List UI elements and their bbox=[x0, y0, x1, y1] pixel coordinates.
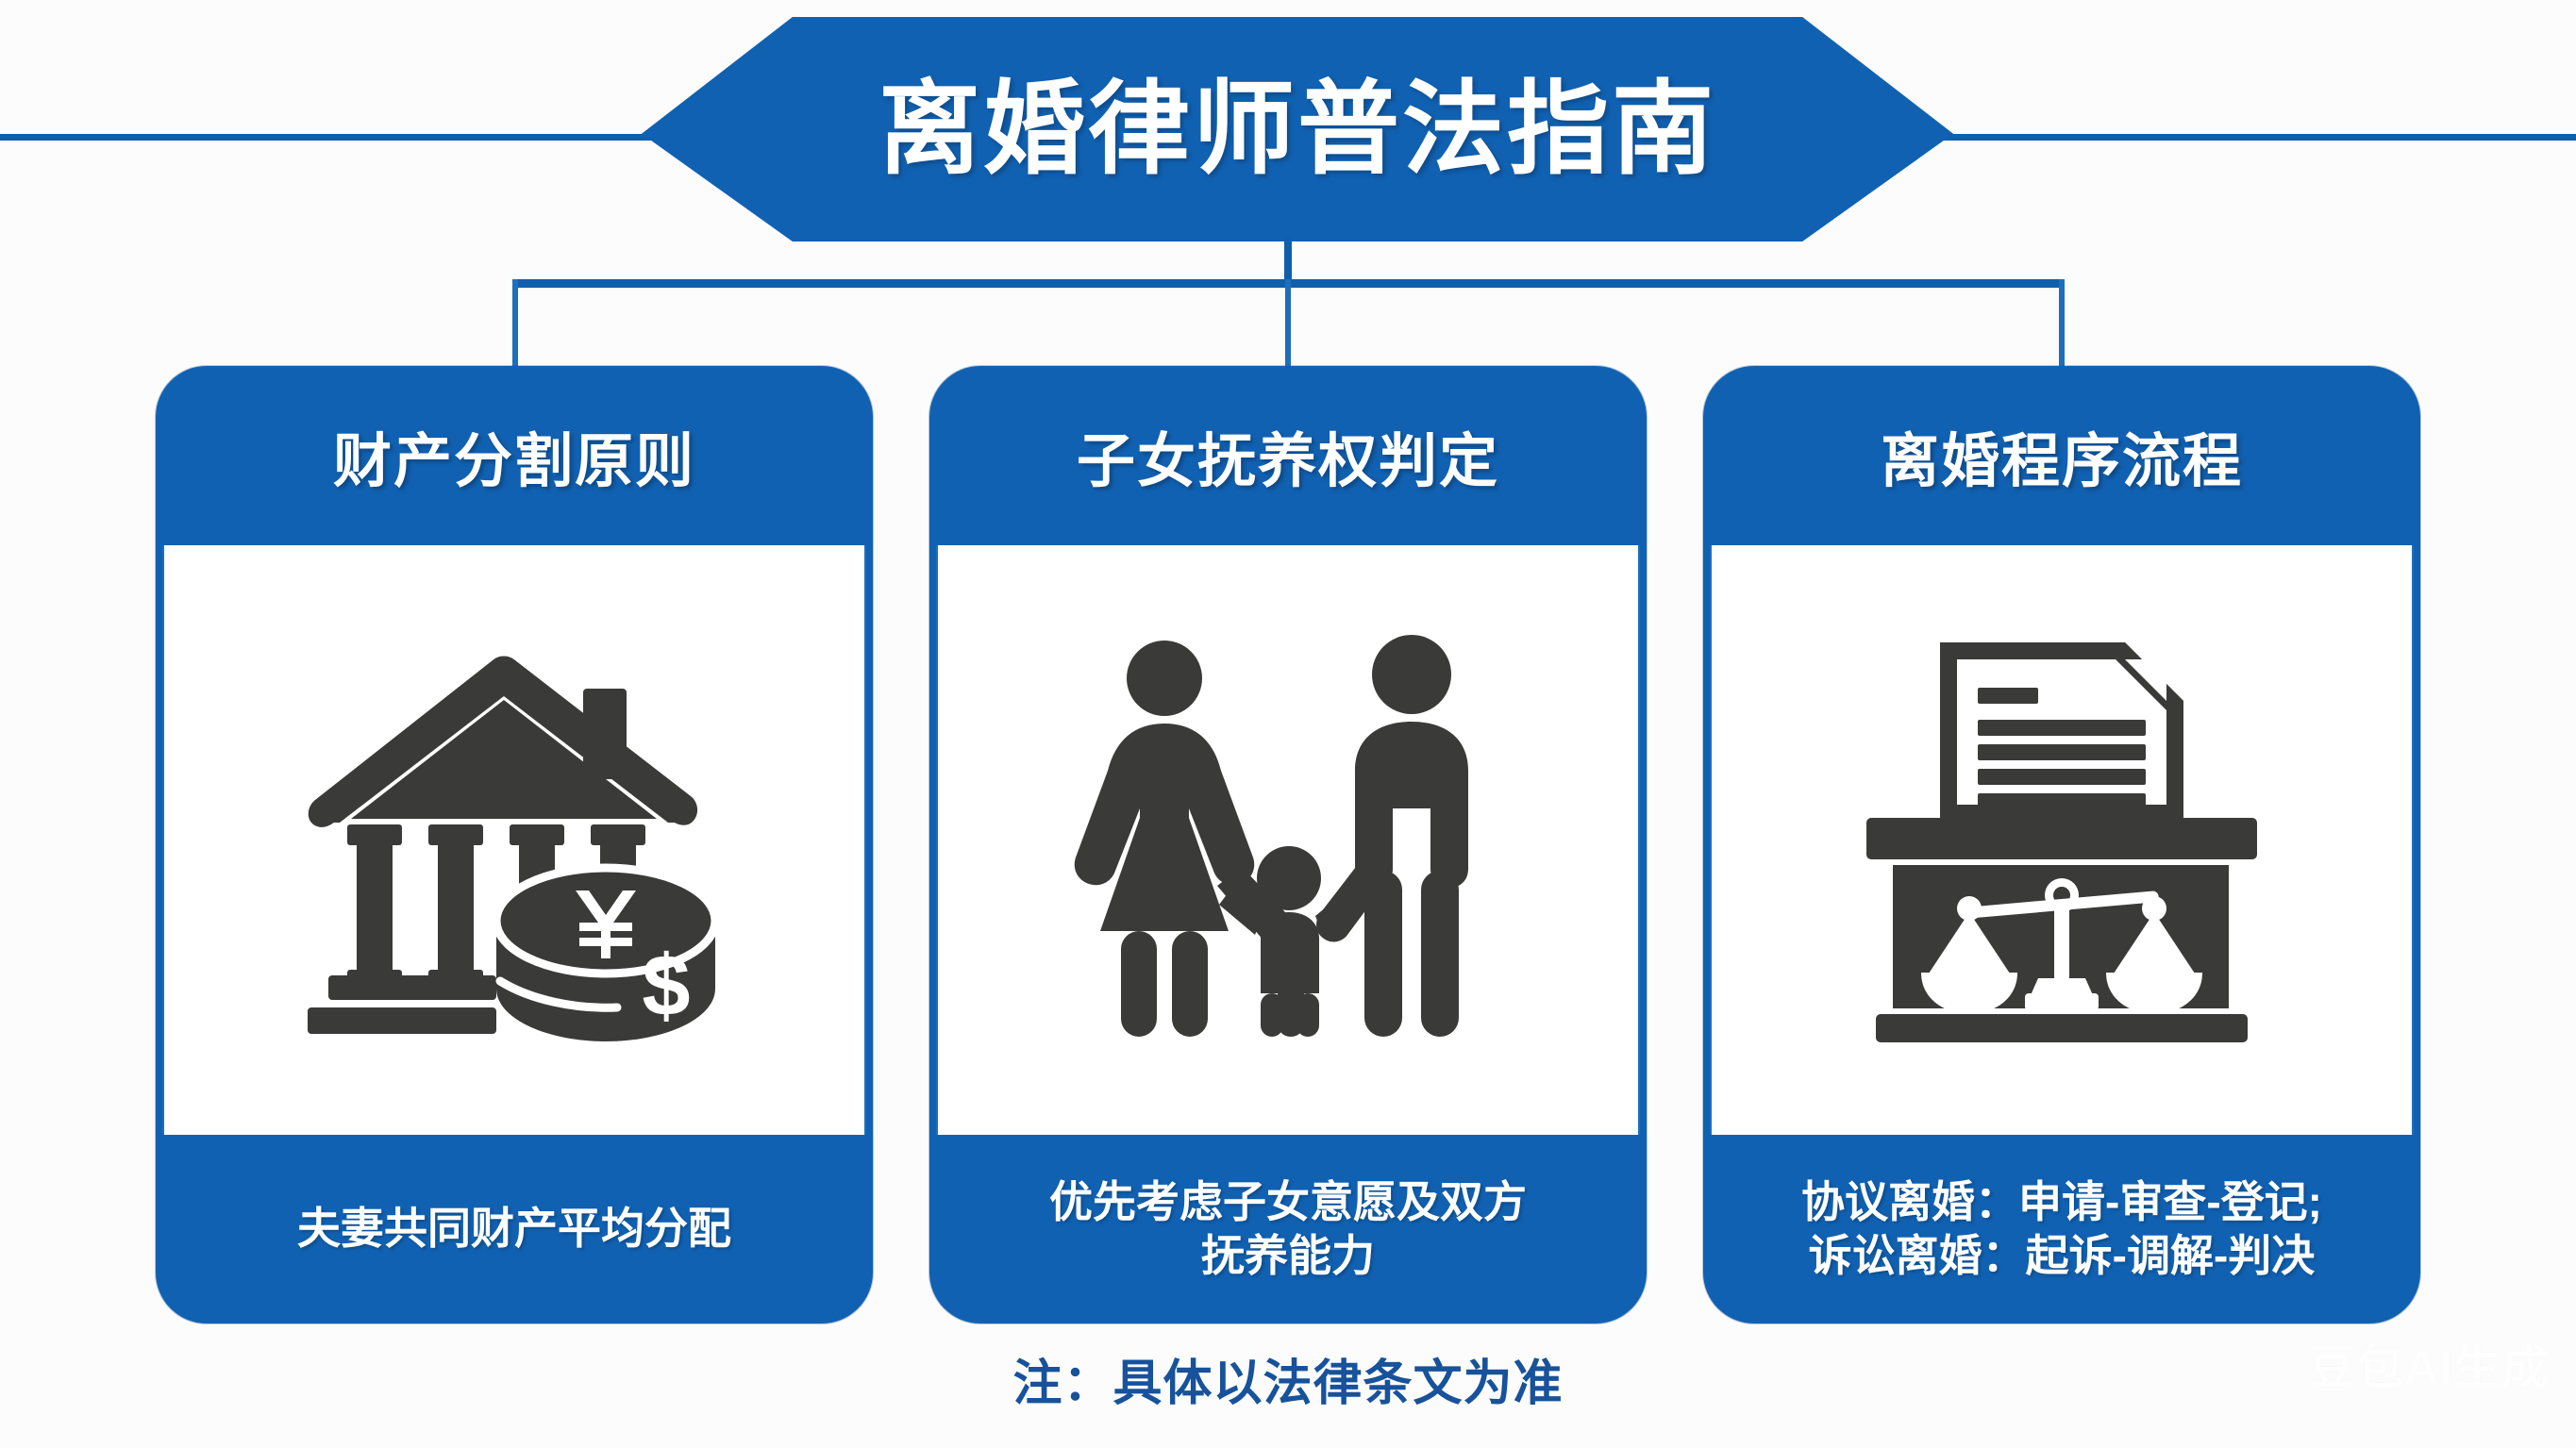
connector-drop-2 bbox=[1285, 279, 1291, 370]
bank-house-money-icon: $ bbox=[293, 638, 736, 1043]
card-illustration: $ bbox=[162, 545, 866, 1135]
page-title: 离婚律师普法指南 bbox=[878, 78, 1716, 180]
card-footer-line: 诉讼离婚：起诉-调解-判决 bbox=[1801, 1229, 2322, 1283]
svg-text:$: $ bbox=[642, 938, 690, 1034]
card-row: 财产分割原则 bbox=[156, 366, 2420, 1323]
title-banner: 离婚律师普法指南 bbox=[642, 17, 1953, 241]
card-footer-line: 协议离婚：申请-审查-登记; bbox=[1801, 1175, 2322, 1229]
header-zone: 离婚律师普法指南 bbox=[0, 0, 2576, 236]
card-divorce-procedure[interactable]: 离婚程序流程 bbox=[1703, 366, 2420, 1323]
header-rail-right bbox=[1887, 134, 2576, 141]
card-title: 财产分割原则 bbox=[156, 366, 873, 545]
family-parents-child-icon bbox=[1066, 633, 1510, 1048]
connector-stem bbox=[1284, 235, 1292, 286]
card-footer-line: 优先考虑子女意愿及双方 bbox=[1049, 1175, 1527, 1229]
header-rail-left bbox=[0, 134, 689, 141]
father-head bbox=[1372, 635, 1451, 714]
card-footer: 优先考虑子女意愿及双方 抚养能力 bbox=[929, 1135, 1647, 1323]
card-footer: 夫妻共同财产平均分配 bbox=[156, 1135, 873, 1323]
doc-line bbox=[1978, 793, 2146, 809]
footnote: 注：具体以法律条文为准 bbox=[0, 1343, 2576, 1414]
child-head bbox=[1257, 846, 1321, 910]
card-property-division[interactable]: 财产分割原则 bbox=[156, 366, 873, 1323]
court-podium-scales-document-icon bbox=[1859, 633, 2265, 1048]
doc-line bbox=[1978, 744, 2146, 760]
connector-bus bbox=[512, 279, 2065, 288]
watermark: 豆包AI生成 bbox=[2308, 1330, 2550, 1398]
mother-head bbox=[1127, 641, 1202, 716]
card-title: 离婚程序流程 bbox=[1703, 366, 2420, 545]
card-title: 子女抚养权判定 bbox=[929, 366, 1647, 545]
card-illustration bbox=[936, 545, 1640, 1135]
card-footer-line: 抚养能力 bbox=[1049, 1229, 1527, 1283]
card-footer: 协议离婚：申请-审查-登记; 诉讼离婚：起诉-调解-判决 bbox=[1703, 1135, 2420, 1323]
infographic-canvas: 离婚律师普法指南 财产分割原则 bbox=[0, 0, 2576, 1448]
card-footer-line: 夫妻共同财产平均分配 bbox=[297, 1202, 731, 1256]
doc-line bbox=[1978, 688, 2038, 704]
card-illustration bbox=[1710, 545, 2414, 1135]
podium-base bbox=[1876, 1014, 2248, 1042]
dollar-symbol: $ bbox=[642, 938, 690, 1034]
doc-line bbox=[1978, 720, 2146, 736]
podium-top bbox=[1866, 818, 2257, 859]
scales-of-justice-icon bbox=[1921, 878, 2202, 1014]
card-child-custody[interactable]: 子女抚养权判定 bbox=[929, 366, 1647, 1323]
connector-drop-1 bbox=[512, 279, 518, 370]
doc-line bbox=[1978, 769, 2146, 785]
connector-drop-3 bbox=[2059, 279, 2065, 370]
